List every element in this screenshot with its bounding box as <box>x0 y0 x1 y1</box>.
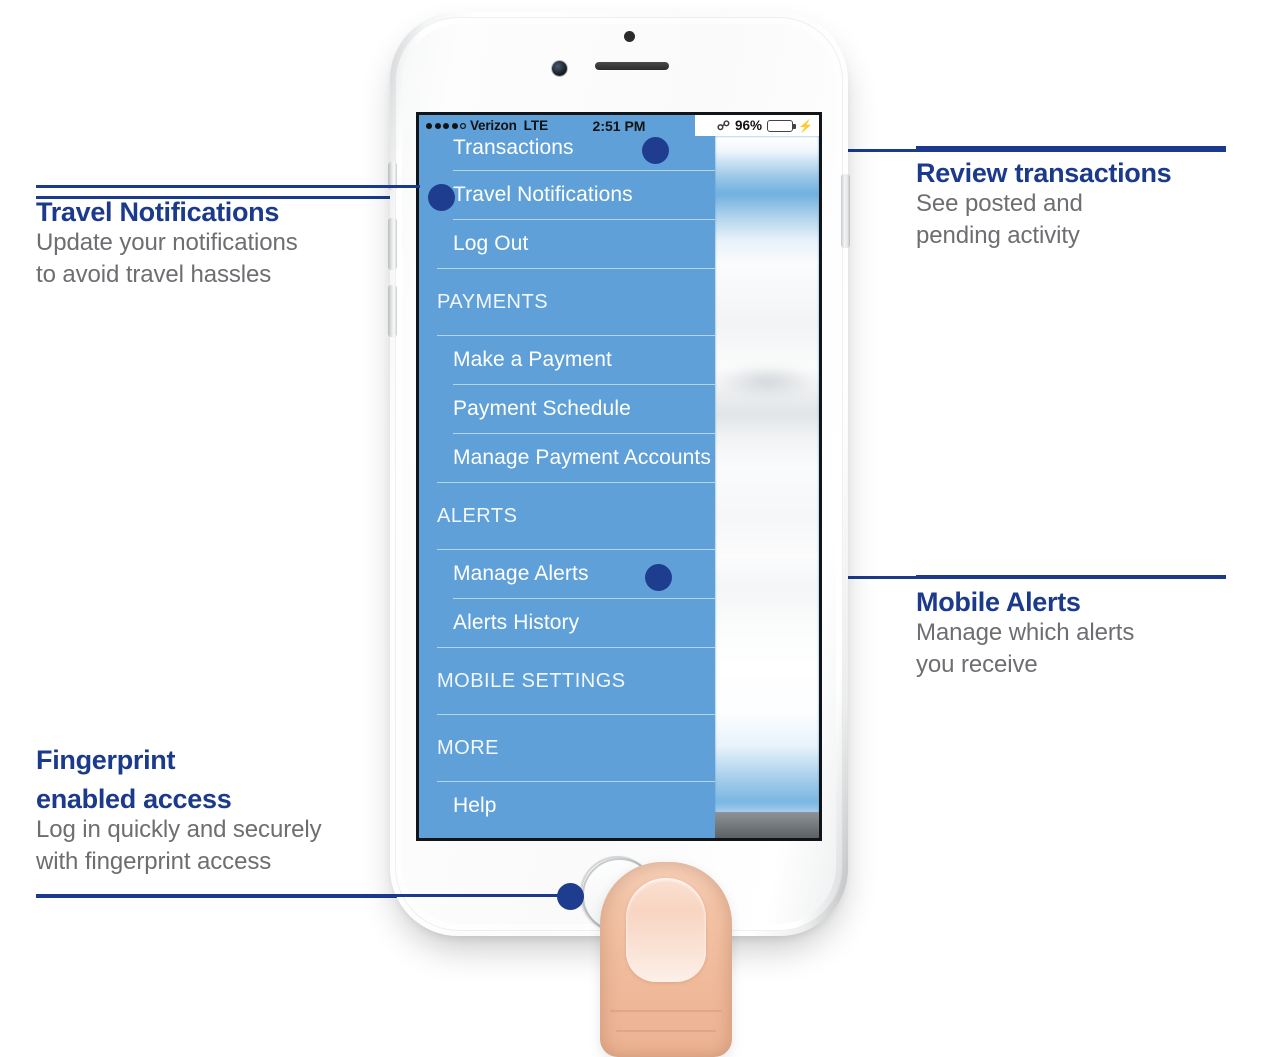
blurred-content-footer <box>715 812 819 838</box>
menu-section-header: ALERTS <box>419 483 715 550</box>
leader-dot-fingerprint <box>557 883 584 910</box>
earpiece-speaker-icon <box>595 62 669 70</box>
menu-section-label: PAYMENTS <box>419 269 715 335</box>
battery-percent-label: 96% <box>735 118 762 133</box>
menu-section-header: PAYMENTS <box>419 269 715 336</box>
callout-title-line1: Fingerprint <box>36 746 576 775</box>
menu-item-label: Payment Schedule <box>419 385 715 433</box>
menu-item-label: Transactions <box>419 136 715 170</box>
callout-review-transactions: Review transactions See posted and pendi… <box>916 146 1226 252</box>
menu-section-label: ALERTS <box>419 483 715 549</box>
menu-item-label: Manage Payment Accounts <box>419 434 715 482</box>
callout-rule <box>916 146 1226 149</box>
finger-crease <box>610 1010 722 1012</box>
menu-item[interactable]: Transactions <box>419 136 715 171</box>
callout-fingerprint-access: Fingerprint enabled access Log in quickl… <box>36 736 576 878</box>
menu-section-label: MOBILE SETTINGS <box>419 648 715 714</box>
status-bar-right: ☍ 96% ⚡ <box>695 115 819 136</box>
menu-item-label: Alerts History <box>419 599 715 647</box>
fingernail <box>626 878 706 982</box>
leader-dot-travel <box>428 184 455 211</box>
phone-screen: Verizon LTE 2:51 PM ☍ 96% ⚡ Transactions… <box>419 115 819 838</box>
menu-item-label: Log Out <box>419 220 715 268</box>
finger-crease <box>616 1030 716 1032</box>
volume-down-button[interactable] <box>388 285 397 337</box>
status-bar: Verizon LTE 2:51 PM ☍ 96% ⚡ <box>419 115 819 136</box>
lightning-bolt-icon: ⚡ <box>798 120 813 132</box>
battery-icon <box>767 120 793 132</box>
menu-item[interactable]: Payment Schedule <box>419 385 715 434</box>
callout-rule <box>36 185 420 188</box>
menu-section-header: MOBILE SETTINGS <box>419 648 715 715</box>
callout-body-line2: you receive <box>916 650 1226 681</box>
callout-title: Travel Notifications <box>36 198 420 227</box>
finger-pressing-home-button <box>600 862 732 1057</box>
callout-rule <box>916 575 1226 578</box>
menu-item-label: Travel Notifications <box>419 171 715 219</box>
callout-body-line1: See posted and <box>916 189 1226 220</box>
menu-item-label: Make a Payment <box>419 336 715 384</box>
menu-item[interactable]: Manage Payment Accounts <box>419 434 715 483</box>
infographic-stage: Verizon LTE 2:51 PM ☍ 96% ⚡ Transactions… <box>0 0 1266 1053</box>
bluetooth-icon: ☍ <box>717 119 730 132</box>
callout-travel-notifications: Travel Notifications Update your notific… <box>36 185 420 291</box>
callout-body-line2: to avoid travel hassles <box>36 260 420 291</box>
battery-cap <box>793 124 795 129</box>
blurred-content-smudge <box>719 365 815 397</box>
callout-title: Review transactions <box>916 159 1226 188</box>
leader-dot-review <box>642 137 669 164</box>
menu-item[interactable]: Travel Notifications <box>419 171 715 220</box>
callout-body-line1: Manage which alerts <box>916 618 1226 649</box>
callout-body-line1: Log in quickly and securely <box>36 815 576 846</box>
callout-body-line2: pending activity <box>916 221 1226 252</box>
callout-mobile-alerts: Mobile Alerts Manage which alerts you re… <box>916 575 1226 681</box>
menu-item[interactable]: Log Out <box>419 220 715 269</box>
callout-body-line1: Update your notifications <box>36 228 420 259</box>
callout-title-line2: enabled access <box>36 785 576 814</box>
power-button[interactable] <box>841 174 850 248</box>
menu-item[interactable]: Make a Payment <box>419 336 715 385</box>
blurred-content-backdrop <box>715 136 819 838</box>
callout-body-line2: with fingerprint access <box>36 847 576 878</box>
slide-out-menu-panel: TransactionsTravel NotificationsLog OutP… <box>419 136 715 838</box>
menu-item[interactable]: Alerts History <box>419 599 715 648</box>
proximity-sensor-icon <box>624 31 635 42</box>
callout-title: Mobile Alerts <box>916 588 1226 617</box>
front-camera-icon <box>552 61 567 76</box>
callout-rule <box>36 894 576 897</box>
leader-dot-alerts <box>645 564 672 591</box>
